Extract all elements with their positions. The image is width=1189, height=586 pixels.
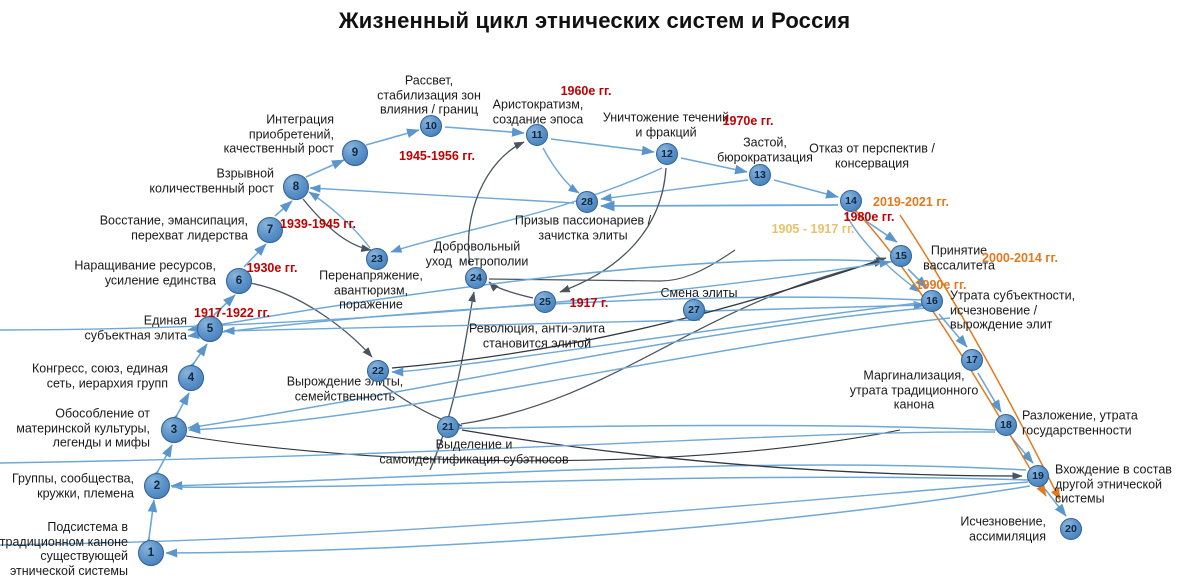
node-28[interactable]: 28 xyxy=(576,191,598,213)
diagram-canvas: Жизненный цикл этнических систем и Росси… xyxy=(0,0,1189,586)
period-label-2: 1930е гг. xyxy=(247,261,298,275)
node-label-18: Разложение, утрата государственности xyxy=(1022,409,1138,438)
node-label-1: Подсистема в традиционном каноне существ… xyxy=(0,520,128,578)
period-label-6: 1960е гг. xyxy=(561,84,612,98)
node-label-6: Наращивание ресурсов, усиление единства xyxy=(74,259,216,288)
node-4[interactable]: 4 xyxy=(178,365,204,391)
node-18[interactable]: 18 xyxy=(995,414,1017,436)
period-label-12: 1990е гг. xyxy=(916,278,967,292)
node-label-7: Восстание, эмансипация, перехват лидерст… xyxy=(100,214,248,243)
node-label-24: Добровольный уход метрополии xyxy=(426,240,529,269)
node-27[interactable]: 27 xyxy=(683,299,705,321)
node-label-4: Конгресс, союз, единая сеть, иерархия гр… xyxy=(32,362,168,391)
node-label-9: Интеграция приобретений, качественный ро… xyxy=(224,112,334,156)
node-label-12: Уничтожение течений и фракций xyxy=(603,111,729,140)
period-label-3: 1939-1945 гг. xyxy=(280,217,356,231)
node-label-13: Застой, бюрократизация xyxy=(717,136,813,165)
node-11[interactable]: 11 xyxy=(526,124,548,146)
period-label-4: 1945-1956 гг. xyxy=(399,149,475,163)
node-14[interactable]: 14 xyxy=(840,190,862,212)
node-label-17: Маргинализация, утрата традиционного кан… xyxy=(850,368,979,412)
node-label-16: Утрата субъектности, исчезновение / выро… xyxy=(950,288,1075,332)
node-label-19: Вхождение в состав другой этнической сис… xyxy=(1055,462,1172,506)
period-label-1: 1917-1922 гг. xyxy=(194,306,270,320)
node-25[interactable]: 25 xyxy=(534,291,556,313)
period-label-7: 1970е гг. xyxy=(723,114,774,128)
node-24[interactable]: 24 xyxy=(465,267,487,289)
node-label-14: Отказ от перспектив / консервация xyxy=(809,142,935,171)
node-20[interactable]: 20 xyxy=(1060,518,1082,540)
node-label-5: Единая субъектная элита xyxy=(85,314,188,343)
node-16[interactable]: 16 xyxy=(921,290,943,312)
node-2[interactable]: 2 xyxy=(144,473,170,499)
node-label-8: Взрывной количественный рост xyxy=(149,167,274,196)
node-17[interactable]: 17 xyxy=(961,349,983,371)
node-label-10: Рассвет, стабилизация зон влияния / гран… xyxy=(377,73,481,117)
period-label-5: 1917 г. xyxy=(570,296,609,310)
node-label-27: Смена элиты xyxy=(661,286,738,301)
node-12[interactable]: 12 xyxy=(656,143,678,165)
node-label-22: Вырождение элиты, семейственность xyxy=(287,375,404,404)
node-8[interactable]: 8 xyxy=(283,174,309,200)
node-label-28: Призыв пассионариев / зачистка элиты xyxy=(515,214,651,243)
node-19[interactable]: 19 xyxy=(1027,465,1049,487)
node-10[interactable]: 10 xyxy=(420,115,442,137)
period-label-11: 2000-2014 гг. xyxy=(982,251,1058,265)
node-9[interactable]: 9 xyxy=(342,140,368,166)
node-21[interactable]: 21 xyxy=(437,416,459,438)
node-23[interactable]: 23 xyxy=(366,248,388,270)
node-13[interactable]: 13 xyxy=(749,164,771,186)
node-label-25: Революция, анти-элита становится элитой xyxy=(469,322,605,351)
period-label-9: 1905 - 1917 гг. xyxy=(772,222,855,236)
node-15[interactable]: 15 xyxy=(890,245,912,267)
period-label-10: 2019-2021 гг. xyxy=(873,195,949,209)
node-label-21: Выделение и самоидентификация субэтносов xyxy=(379,438,568,467)
node-22[interactable]: 22 xyxy=(367,360,389,382)
node-label-3: Обособление от материнской культуры, лег… xyxy=(16,406,150,450)
node-label-2: Группы, сообщества, кружки, племена xyxy=(12,472,134,501)
node-3[interactable]: 3 xyxy=(161,417,187,443)
node-1[interactable]: 1 xyxy=(138,540,164,566)
node-label-11: Аристократизм, создание эпоса xyxy=(493,98,584,127)
page-title: Жизненный цикл этнических систем и Росси… xyxy=(0,8,1189,34)
node-label-23: Перенапряжение, авантюризм, поражение xyxy=(319,268,423,312)
node-label-20: Исчезновение, ассимиляция xyxy=(960,515,1046,544)
